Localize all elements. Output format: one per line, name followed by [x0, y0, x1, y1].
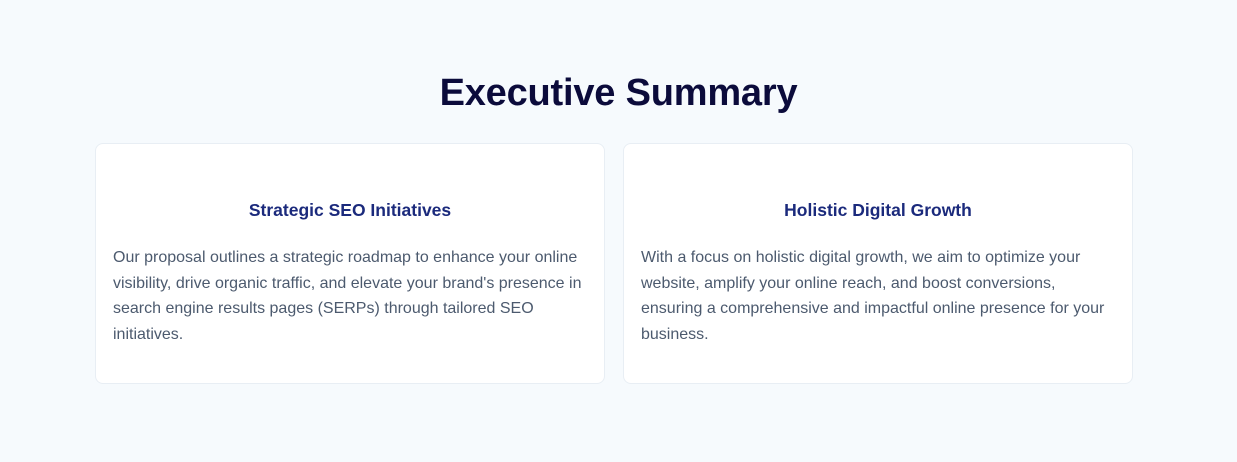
summary-cards-row: Strategic SEO Initiatives Our proposal o… — [95, 143, 1133, 384]
summary-card-holistic-digital-growth: Holistic Digital Growth With a focus on … — [623, 143, 1133, 384]
executive-summary-page: Executive Summary Strategic SEO Initiati… — [0, 0, 1237, 462]
card-body-text: With a focus on holistic digital growth,… — [641, 245, 1115, 347]
card-title: Strategic SEO Initiatives — [113, 198, 587, 222]
summary-card-strategic-seo-initiatives: Strategic SEO Initiatives Our proposal o… — [95, 143, 605, 384]
page-title: Executive Summary — [0, 69, 1237, 117]
card-body-text: Our proposal outlines a strategic roadma… — [113, 245, 587, 347]
card-title: Holistic Digital Growth — [641, 198, 1115, 222]
